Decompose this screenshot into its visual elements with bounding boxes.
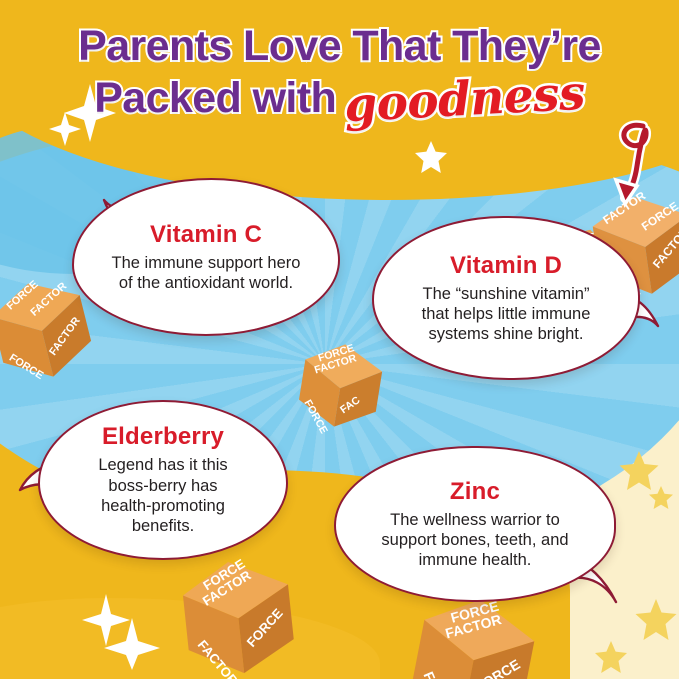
gummy-cube-icon-bottom-left: FORCE FACTOR FACTOR FORCE: [165, 541, 310, 679]
gummy-cube-icon-center: FORCE FACTOR FORCE FAC: [280, 322, 401, 443]
benefit-title-vitamin-c: Vitamin C: [150, 221, 262, 249]
star-icon-yellow-4: [594, 640, 628, 679]
benefit-card-vitamin-d[interactable]: Vitamin D The “sunshine vitamin”that hel…: [372, 216, 640, 380]
benefit-body-elderberry: Legend has it thisboss-berry hashealth-p…: [98, 455, 227, 536]
page-title: Parents Love That They’re Packed withgoo…: [0, 26, 679, 119]
benefit-title-vitamin-d: Vitamin D: [450, 252, 562, 280]
star-icon-yellow-2: [648, 485, 674, 516]
promo-graphic: Parents Love That They’re Packed withgoo…: [0, 0, 679, 679]
headline-line-1: Parents Love That They’re: [0, 26, 679, 68]
benefit-title-elderberry: Elderberry: [102, 423, 224, 451]
headline-line-2-plain: Packed with: [94, 74, 336, 122]
headline-line-2: Packed withgoodness: [0, 74, 679, 120]
benefit-body-zinc: The wellness warrior tosupport bones, te…: [381, 510, 568, 571]
benefit-card-elderberry[interactable]: Elderberry Legend has it thisboss-berry …: [38, 400, 288, 560]
star-icon-white-top: [414, 140, 448, 179]
benefit-body-vitamin-d: The “sunshine vitamin”that helps little …: [422, 284, 591, 345]
sparkle-icon-bottom-left: [68, 592, 164, 672]
headline-goodness-script: goodness: [343, 70, 586, 128]
benefit-card-zinc[interactable]: Zinc The wellness warrior tosupport bone…: [334, 446, 616, 602]
curly-arrow-icon: [599, 118, 663, 219]
benefit-body-vitamin-c: The immune support heroof the antioxidan…: [112, 253, 301, 294]
benefit-title-zinc: Zinc: [450, 478, 500, 506]
star-icon-yellow-3: [634, 598, 678, 647]
